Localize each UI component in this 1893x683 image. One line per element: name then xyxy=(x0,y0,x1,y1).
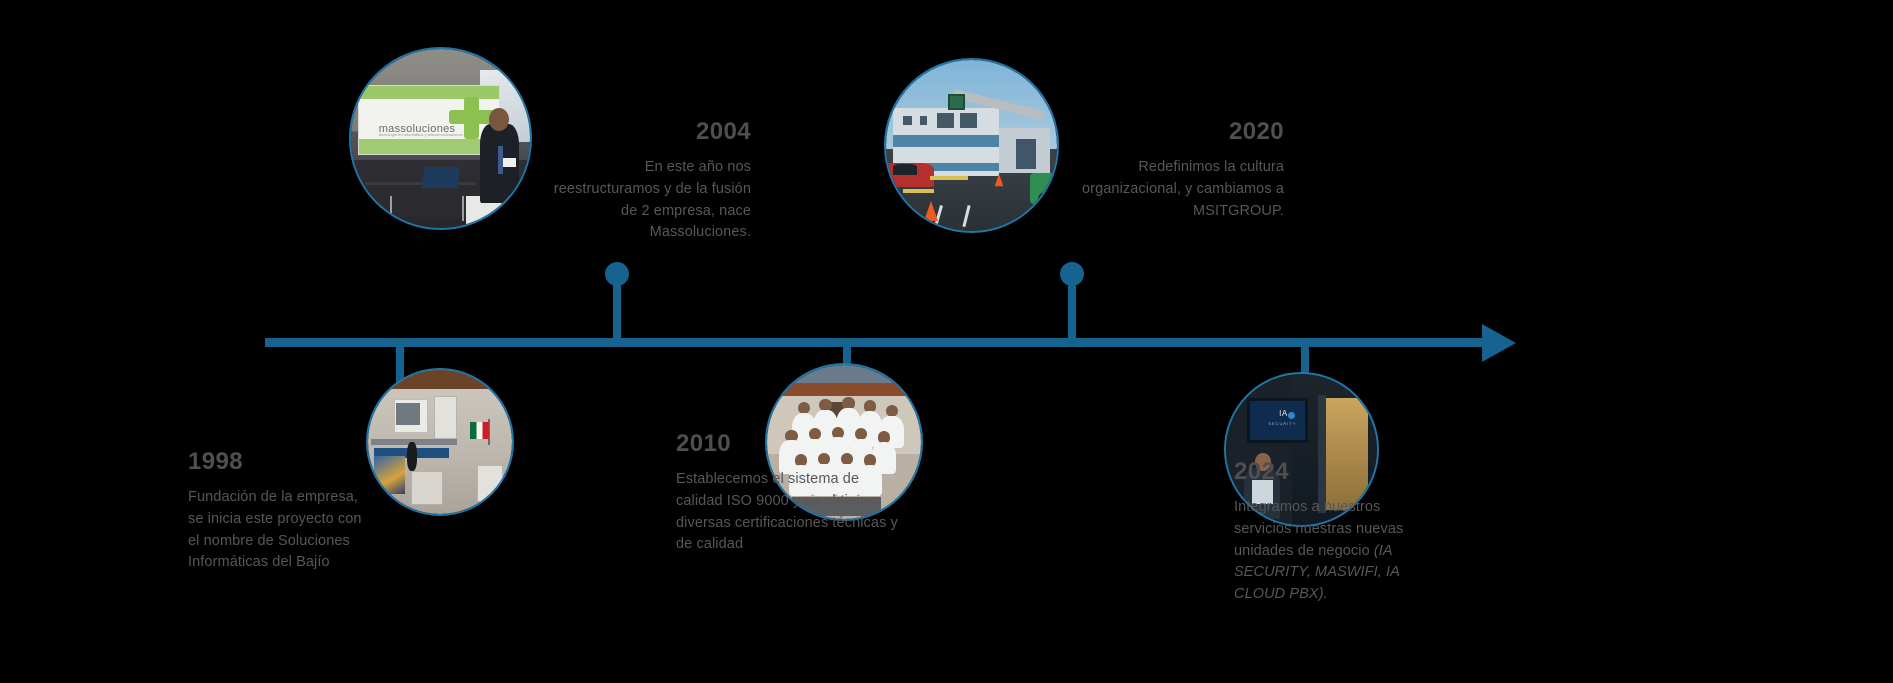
traffic-cone-icon xyxy=(995,174,1004,186)
building-window xyxy=(920,116,927,125)
milestone-description-2024: Integramos a nuestros servicios nuestras… xyxy=(1234,497,1431,606)
milestone-photo-2004[interactable]: massoluciones tecnología en informática … xyxy=(349,47,532,230)
milestone-photo-1998[interactable] xyxy=(366,368,514,516)
milestone-year-2020: 2020 xyxy=(1075,120,1284,144)
building-window xyxy=(960,113,977,128)
photo-1998-dark-object xyxy=(407,442,417,471)
milestone-photo-2020[interactable] xyxy=(884,58,1059,233)
banner-bottom-band xyxy=(359,139,499,154)
milestone-description-1998: Fundación de la empresa, se inicia este … xyxy=(188,487,364,574)
timeline-infographic: massoluciones tecnología en informática … xyxy=(0,0,1893,683)
photo-2004-name-badge xyxy=(503,158,516,167)
milestone-year-2024: 2024 xyxy=(1234,460,1431,484)
milestone-text-2024: 2024 Integramos a nuestros servicios nue… xyxy=(1234,460,1431,606)
photo-1998-wood-ceiling xyxy=(368,370,512,389)
milestone-text-2020: 2020 Redefinimos la cultura organizacion… xyxy=(1075,120,1284,222)
table-leg xyxy=(462,196,464,221)
table-leg xyxy=(390,196,392,221)
milestone-text-1998: 1998 Fundación de la empresa, se inicia … xyxy=(188,450,364,574)
photo-2020-lift-wheel xyxy=(1038,192,1053,207)
car-window xyxy=(893,164,917,174)
photo-2004-laptop xyxy=(421,167,459,188)
milestone-text-2004: 2004 En este año nos reestructuramos y d… xyxy=(546,120,751,244)
photo-2004-person-head xyxy=(489,108,509,131)
milestone-text-2010: 2010 Establecemos el sistema de calidad … xyxy=(676,432,906,556)
parking-curb xyxy=(930,176,968,180)
photo-2004-dark-table xyxy=(365,182,476,217)
traffic-cone-icon xyxy=(924,201,938,221)
building-window xyxy=(937,113,954,128)
milestone-description-2010: Establecemos el sistema de calidad ISO 9… xyxy=(676,469,906,556)
banner-tagline-text: tecnología en informática y telecomunica… xyxy=(379,132,463,137)
photo-2020-lift-bucket xyxy=(948,94,965,109)
green-cross-icon-bar xyxy=(449,110,495,124)
photo-1998-pc-tower xyxy=(477,465,503,502)
milestone-year-1998: 1998 xyxy=(188,450,364,474)
mexico-flag-icon xyxy=(470,422,489,439)
ia-security-logo-dot-icon xyxy=(1288,412,1295,419)
ia-security-logo-subtext: SECURITY xyxy=(1268,421,1296,426)
milestone-description-2004: En este año nos reestructuramos y de la … xyxy=(546,157,751,244)
photo-1998-equipment-box xyxy=(411,471,443,506)
photo-2020-entrance-door xyxy=(1016,139,1037,170)
building-window xyxy=(903,116,912,125)
photo-1998-pc-tower xyxy=(434,396,457,439)
milestone-year-2004: 2004 xyxy=(546,120,751,144)
crt-screen xyxy=(396,403,420,424)
photo-1998-poster xyxy=(374,456,406,493)
parking-curb xyxy=(903,189,934,193)
building-stripe xyxy=(893,135,999,147)
timeline-dot-2004[interactable] xyxy=(605,262,629,286)
milestone-year-2010: 2010 xyxy=(676,432,906,456)
timeline-arrow-icon xyxy=(1482,324,1516,362)
timeline-dot-2020[interactable] xyxy=(1060,262,1084,286)
milestone-description-2020: Redefinimos la cultura organizacional, y… xyxy=(1075,157,1284,222)
photo-1998-crt-monitor xyxy=(394,399,429,434)
photo-2004-banner: massoluciones tecnología en informática … xyxy=(358,85,500,155)
